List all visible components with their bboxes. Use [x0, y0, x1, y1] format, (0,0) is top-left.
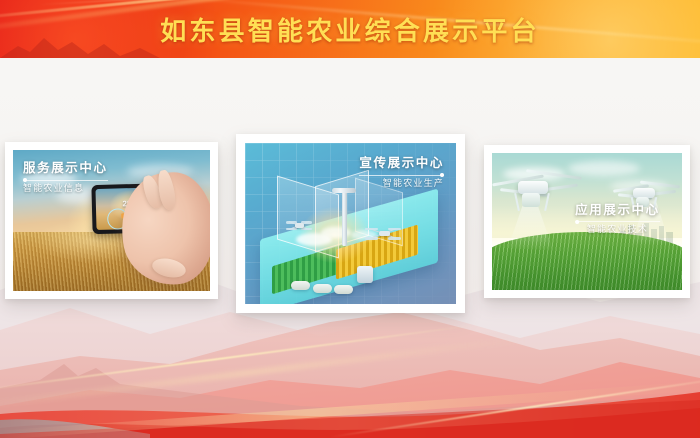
- header-banner: 如东县智能农业综合展示平台: [0, 0, 700, 58]
- app-root: 如东县智能农业综合展示平台 28: [0, 0, 700, 438]
- card-application[interactable]: 应用展示中心 智能农业技术: [484, 145, 690, 298]
- card-application-title: 应用展示中心: [575, 204, 660, 217]
- card-application-subtitle: 智能农业技术: [575, 226, 660, 235]
- card-service-caption: 服务展示中心 智能农业信息: [23, 162, 108, 194]
- hay-roll: [313, 284, 332, 293]
- card-promotion-title: 宣传展示中心: [359, 157, 444, 170]
- page-title: 如东县智能农业综合展示平台: [0, 0, 700, 58]
- hay-roll: [334, 285, 353, 294]
- caption-rule: [23, 180, 108, 181]
- card-service[interactable]: 28 服务展示中心 智能农业信息: [5, 142, 218, 299]
- card-promotion-caption: 宣传展示中心 智能农业生产: [359, 157, 444, 189]
- card-application-scene: 应用展示中心 智能农业技术: [492, 153, 682, 290]
- card-service-scene: 28 服务展示中心 智能农业信息: [13, 150, 210, 291]
- card-promotion-scene: 宣传展示中心 智能农业生产: [245, 143, 456, 304]
- light-pole: [342, 188, 347, 246]
- caption-rule: [575, 221, 660, 222]
- drone: [287, 220, 311, 230]
- drone: [367, 227, 399, 240]
- card-application-caption: 应用展示中心 智能农业技术: [575, 204, 660, 236]
- water-tank: [357, 266, 373, 283]
- caption-rule: [359, 175, 444, 176]
- light-pole-arm: [332, 188, 356, 193]
- hay-roll: [291, 281, 310, 290]
- card-promotion-subtitle: 智能农业生产: [359, 180, 444, 189]
- spraying-drone: [496, 169, 582, 217]
- card-service-title: 服务展示中心: [23, 162, 108, 175]
- card-promotion[interactable]: 宣传展示中心 智能农业生产: [236, 134, 465, 313]
- card-service-subtitle: 智能农业信息: [23, 185, 108, 194]
